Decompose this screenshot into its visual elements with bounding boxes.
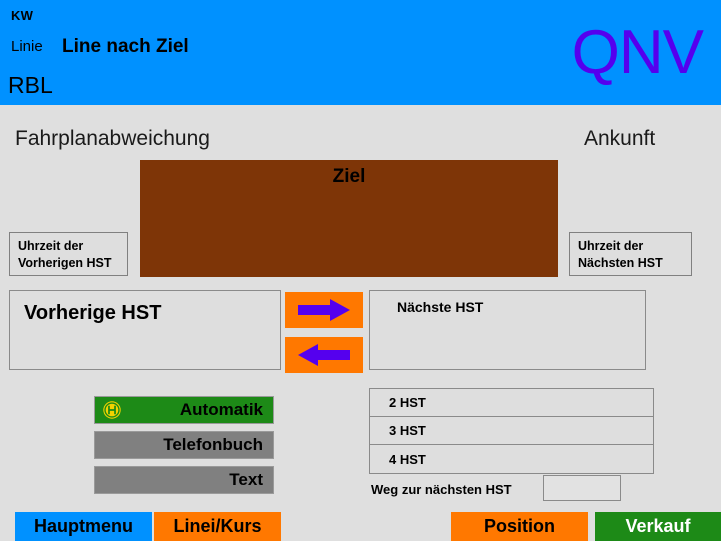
next-stop-label: Nächste HST (397, 299, 483, 315)
list-item[interactable]: 2 HST (370, 389, 653, 417)
time-next-stop-box: Uhrzeit der Nächsten HST (569, 232, 692, 276)
destination-label: Ziel (140, 166, 558, 188)
line-destination-title: Line nach Ziel (62, 36, 189, 58)
destination-panel[interactable]: Ziel (140, 160, 558, 277)
hauptmenu-button[interactable]: Hauptmenu (15, 512, 152, 541)
arrival-label: Ankunft (584, 127, 655, 151)
arrow-right-icon (298, 299, 350, 321)
stop-count-list: 2 HST 3 HST 4 HST (369, 388, 654, 474)
verkauf-button[interactable]: Verkauf (595, 512, 721, 541)
text-label: Text (229, 470, 263, 490)
automatik-label: Automatik (123, 400, 263, 420)
qnv-dispatch-screen: KW Linie Line nach Ziel RBL QNV Fahrplan… (0, 0, 721, 541)
way-to-next-stop-label: Weg zur nächsten HST (371, 482, 512, 497)
list-item[interactable]: 4 HST (370, 445, 653, 473)
bus-stop-h-icon (101, 399, 123, 421)
automatik-button[interactable]: Automatik (94, 396, 274, 424)
way-to-next-stop-input[interactable] (543, 475, 621, 501)
position-button[interactable]: Position (451, 512, 588, 541)
linie-kurs-button[interactable]: Linei/Kurs (154, 512, 281, 541)
linie-label: Linie (11, 38, 43, 55)
previous-stop-label: Vorherige HST (24, 302, 161, 325)
qnv-logo: QNV (572, 22, 703, 84)
time-previous-stop-box: Uhrzeit der Vorherigen HST (9, 232, 128, 276)
telefonbuch-label: Telefonbuch (163, 435, 263, 455)
rbl-label: RBL (8, 72, 53, 99)
previous-stop-panel[interactable]: Vorherige HST (9, 290, 281, 370)
kw-label: KW (11, 8, 33, 23)
next-stop-panel[interactable]: Nächste HST (369, 290, 646, 370)
arrow-left-icon (298, 344, 350, 366)
telefonbuch-button[interactable]: Telefonbuch (94, 431, 274, 459)
text-button[interactable]: Text (94, 466, 274, 494)
previous-stop-button[interactable] (285, 337, 363, 373)
next-stop-button[interactable] (285, 292, 363, 328)
app-header: KW Linie Line nach Ziel RBL QNV (0, 0, 721, 105)
schedule-deviation-label: Fahrplanabweichung (15, 127, 210, 151)
list-item[interactable]: 3 HST (370, 417, 653, 445)
